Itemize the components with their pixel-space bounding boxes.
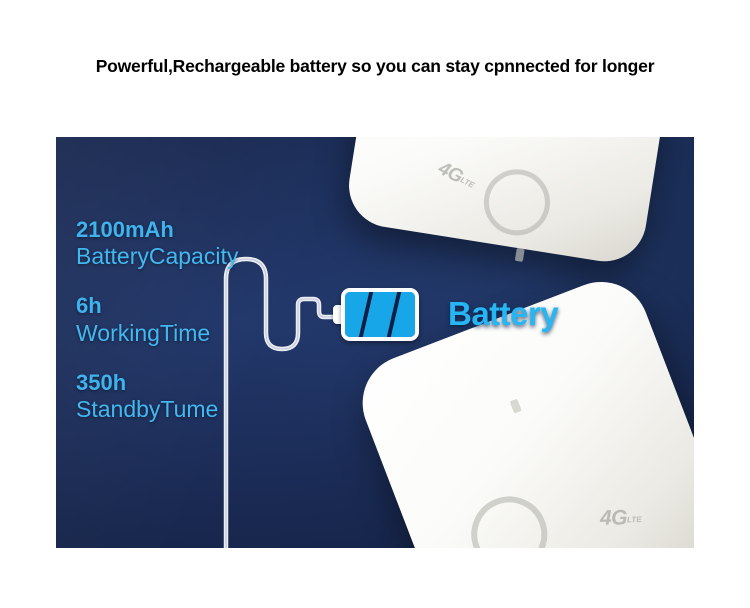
status-led-icon xyxy=(515,248,525,262)
spec-value: 6h xyxy=(76,293,238,318)
battery-body-icon xyxy=(341,288,419,341)
battery-label: Battery xyxy=(448,295,558,333)
spec-item-battery-capacity: 2100mAh BatteryCapacity xyxy=(76,217,238,270)
spec-label: StandbyTume xyxy=(76,395,238,423)
spec-label: WorkingTime xyxy=(76,319,238,347)
spec-list: 2100mAh BatteryCapacity 6h WorkingTime 3… xyxy=(76,217,238,423)
power-button-ring-icon xyxy=(460,485,558,548)
spec-value: 2100mAh xyxy=(76,217,238,242)
4g-logo-text: 4G xyxy=(600,506,627,529)
hero-product-image: 4GLTE 4GLTE Battery 2100mAh BatteryCapac… xyxy=(56,137,694,548)
spec-item-standby-time: 350h StandbyTume xyxy=(76,370,238,423)
lte-logo-text: LTE xyxy=(627,515,642,524)
lte-logo-text: LTE xyxy=(459,175,476,190)
4g-lte-logo: 4GLTE xyxy=(434,158,479,195)
power-button-ring-icon xyxy=(479,165,555,241)
status-led-icon xyxy=(510,399,522,414)
battery-icon xyxy=(333,288,419,341)
page-title: Powerful,Rechargeable battery so you can… xyxy=(0,56,750,77)
spec-value: 350h xyxy=(76,370,238,395)
spec-label: BatteryCapacity xyxy=(76,242,238,270)
spec-item-working-time: 6h WorkingTime xyxy=(76,293,238,346)
wifi-router-top: 4GLTE xyxy=(343,137,669,267)
battery-level-bars xyxy=(345,292,415,337)
4g-lte-logo: 4GLTE xyxy=(600,506,642,531)
